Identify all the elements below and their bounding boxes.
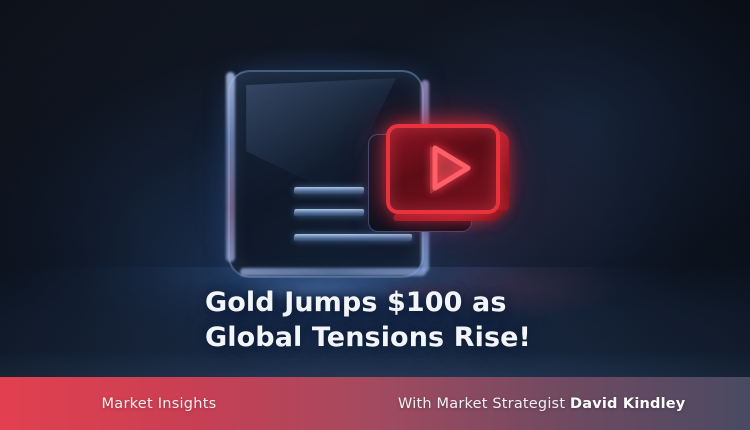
document-text-line-3: [294, 234, 413, 241]
document-text-line-1: [294, 187, 365, 194]
document-bevel-bottom: [240, 268, 426, 276]
document-bevel-left: [226, 72, 235, 262]
document-with-video-3d-icon: [222, 62, 512, 282]
presenter-credit-prefix: With Market Strategist: [398, 396, 570, 412]
play-triangle-icon: [428, 142, 474, 194]
presenter-credit: With Market Strategist David Kindley: [398, 396, 685, 412]
banner-stage: Gold Jumps $100 as Global Tensions Rise!…: [0, 0, 750, 430]
page-title: Gold Jumps $100 as Global Tensions Rise!: [205, 286, 625, 355]
headline-line-2: Global Tensions Rise!: [205, 321, 625, 356]
footer-left-section: Market Insights: [0, 396, 318, 412]
headline-line-1: Gold Jumps $100 as: [205, 286, 625, 321]
footer-right-section: With Market Strategist David Kindley: [318, 396, 750, 412]
presenter-name: David Kindley: [570, 396, 685, 412]
document-text-line-2: [294, 209, 365, 216]
footer-bar: Market Insights With Market Strategist D…: [0, 377, 750, 430]
program-name-label: Market Insights: [102, 396, 217, 412]
